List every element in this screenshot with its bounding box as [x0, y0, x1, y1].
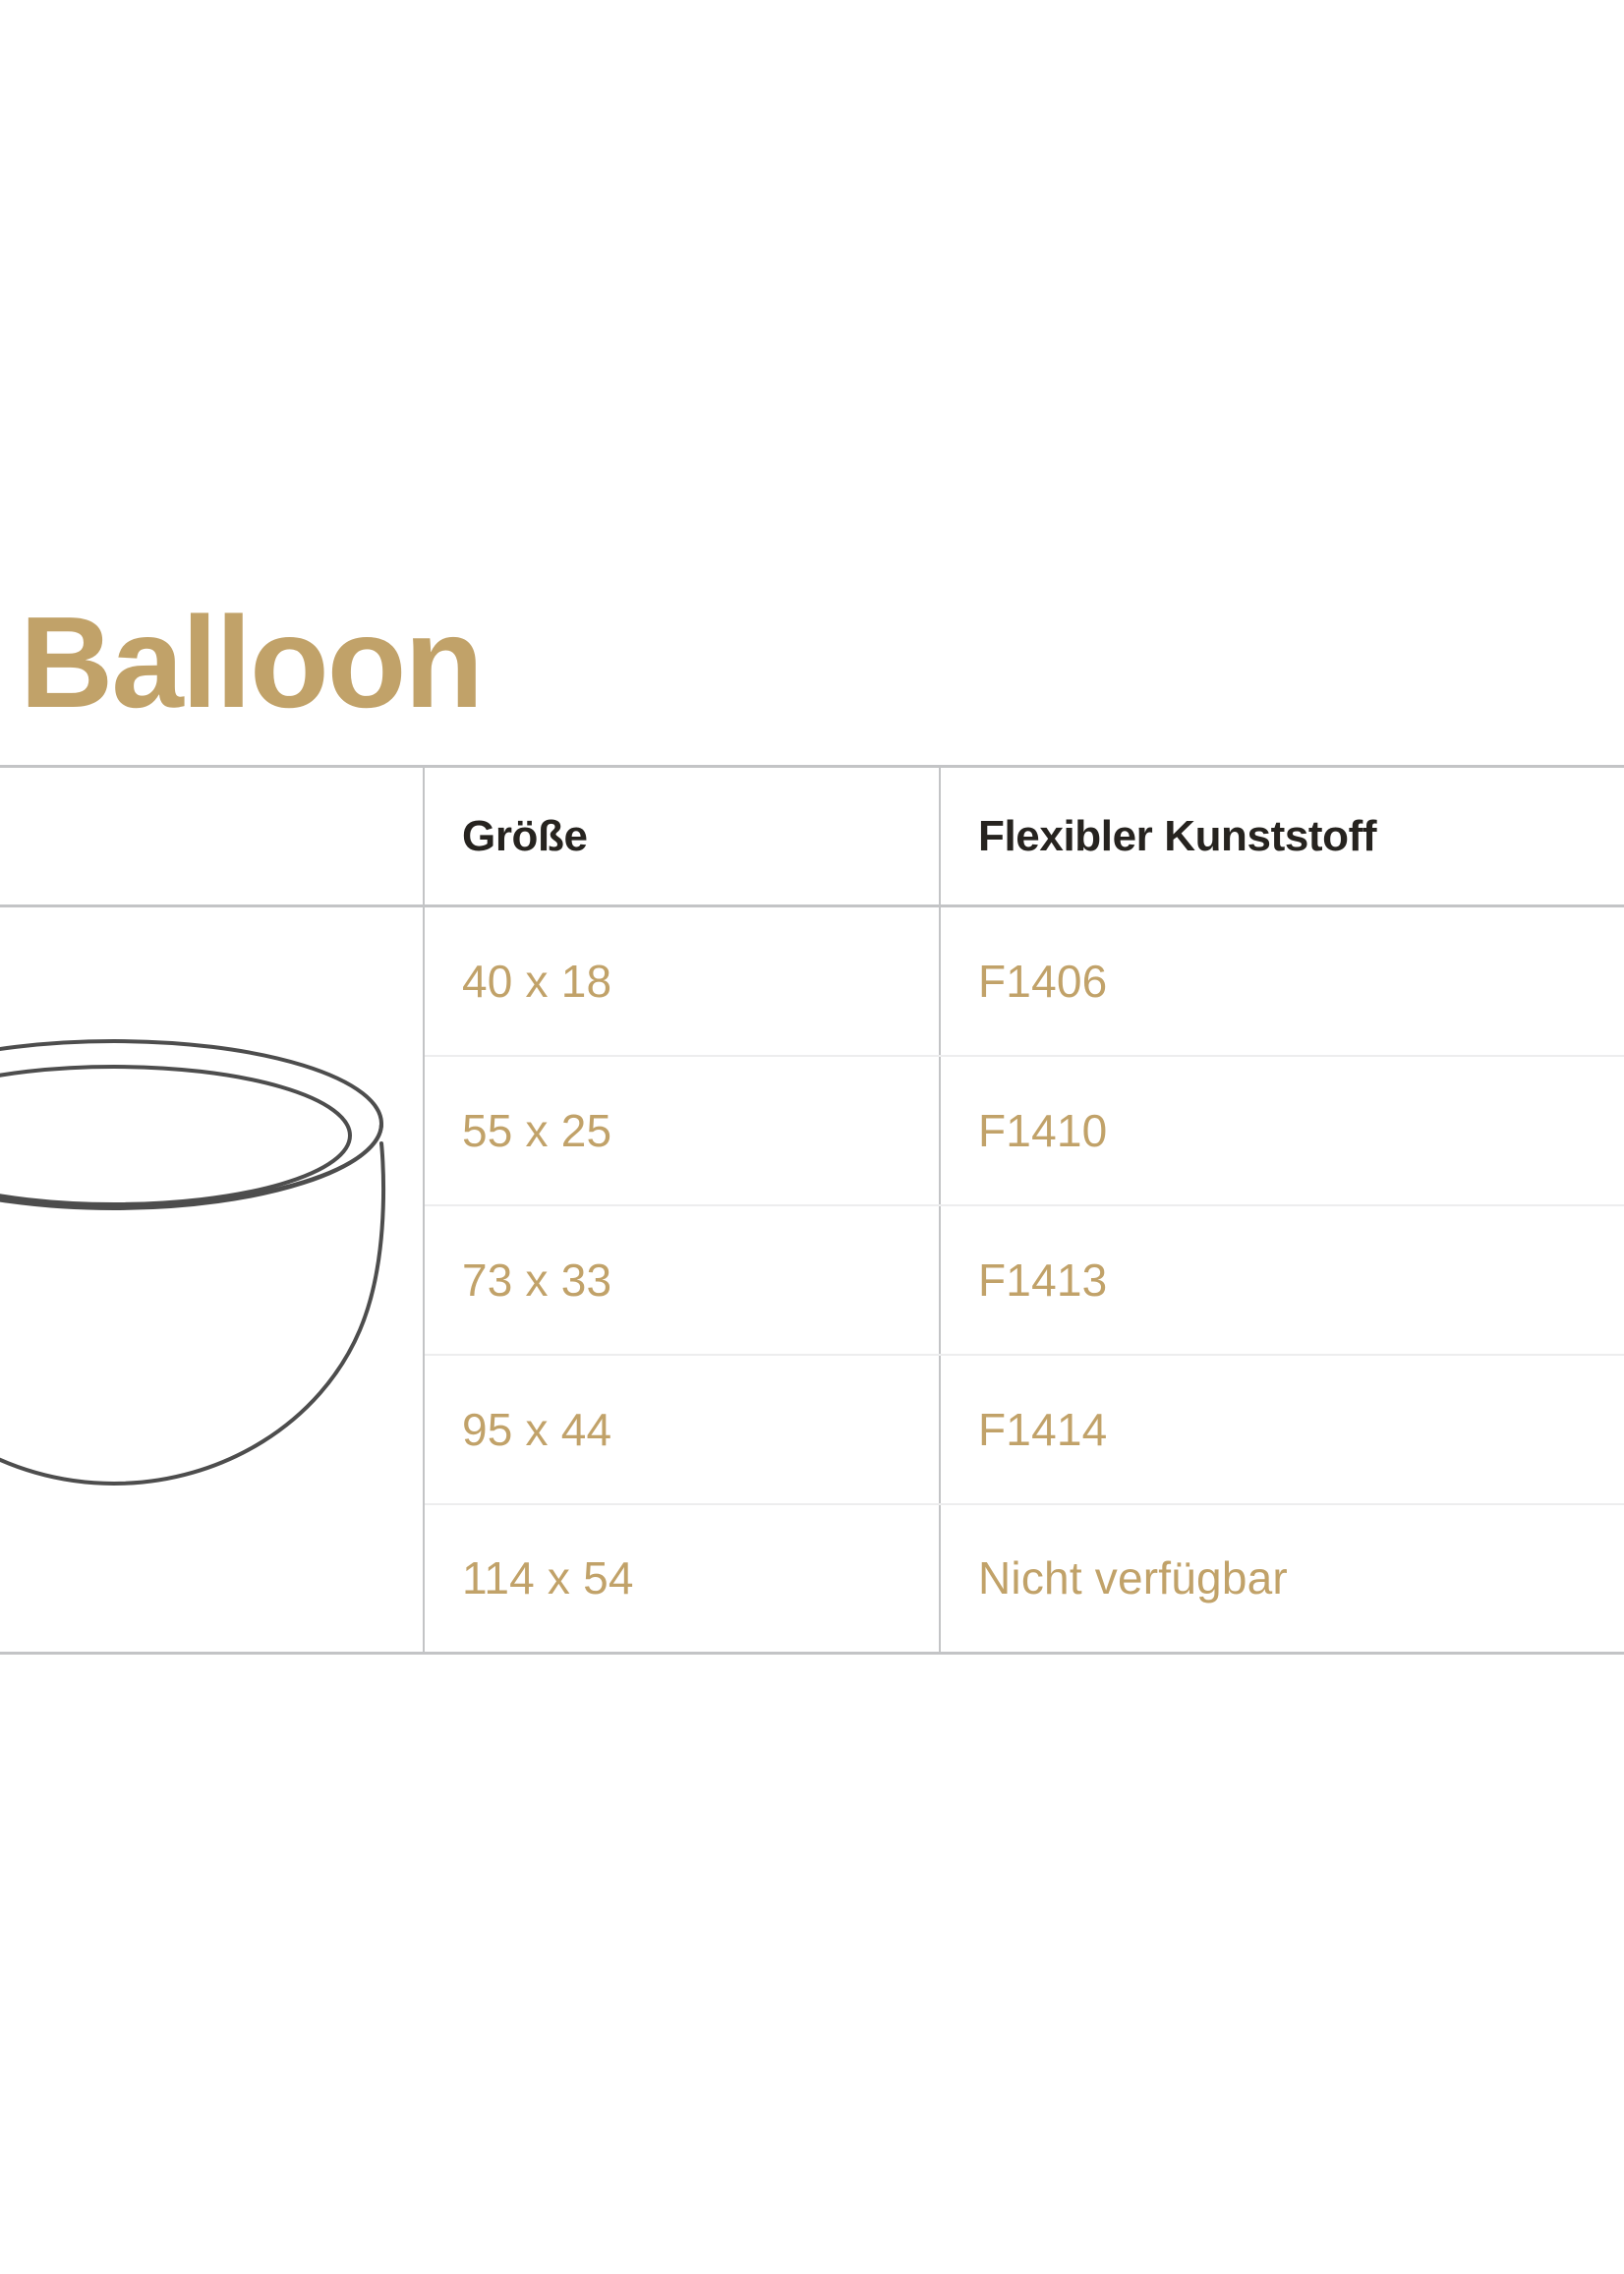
bowl-planter-icon — [0, 1006, 399, 1517]
cell-material: F1413 — [940, 1205, 1624, 1355]
column-header-illustration — [0, 767, 424, 906]
cell-size: 95 x 44 — [424, 1355, 940, 1504]
table-header-row: Größe Flexibler Kunststoff — [0, 767, 1624, 906]
cell-size: 40 x 18 — [424, 906, 940, 1056]
table-row: 40 x 18 F1406 — [0, 906, 1624, 1056]
table-header: Größe Flexibler Kunststoff — [0, 767, 1624, 906]
cell-size: 114 x 54 — [424, 1504, 940, 1654]
cell-material: F1414 — [940, 1355, 1624, 1504]
column-header-material: Flexibler Kunststoff — [940, 767, 1624, 906]
cell-material: F1410 — [940, 1056, 1624, 1205]
table-body: 40 x 18 F1406 55 x 25 F1410 73 x 33 F141… — [0, 906, 1624, 1654]
cell-material: Nicht verfügbar — [940, 1504, 1624, 1654]
page-title: Balloon — [20, 598, 482, 728]
product-illustration-cell — [0, 906, 424, 1654]
cell-size: 55 x 25 — [424, 1056, 940, 1205]
cell-size: 73 x 33 — [424, 1205, 940, 1355]
cell-material: F1406 — [940, 906, 1624, 1056]
size-table: Größe Flexibler Kunststoff — [0, 765, 1624, 1655]
column-header-size: Größe — [424, 767, 940, 906]
